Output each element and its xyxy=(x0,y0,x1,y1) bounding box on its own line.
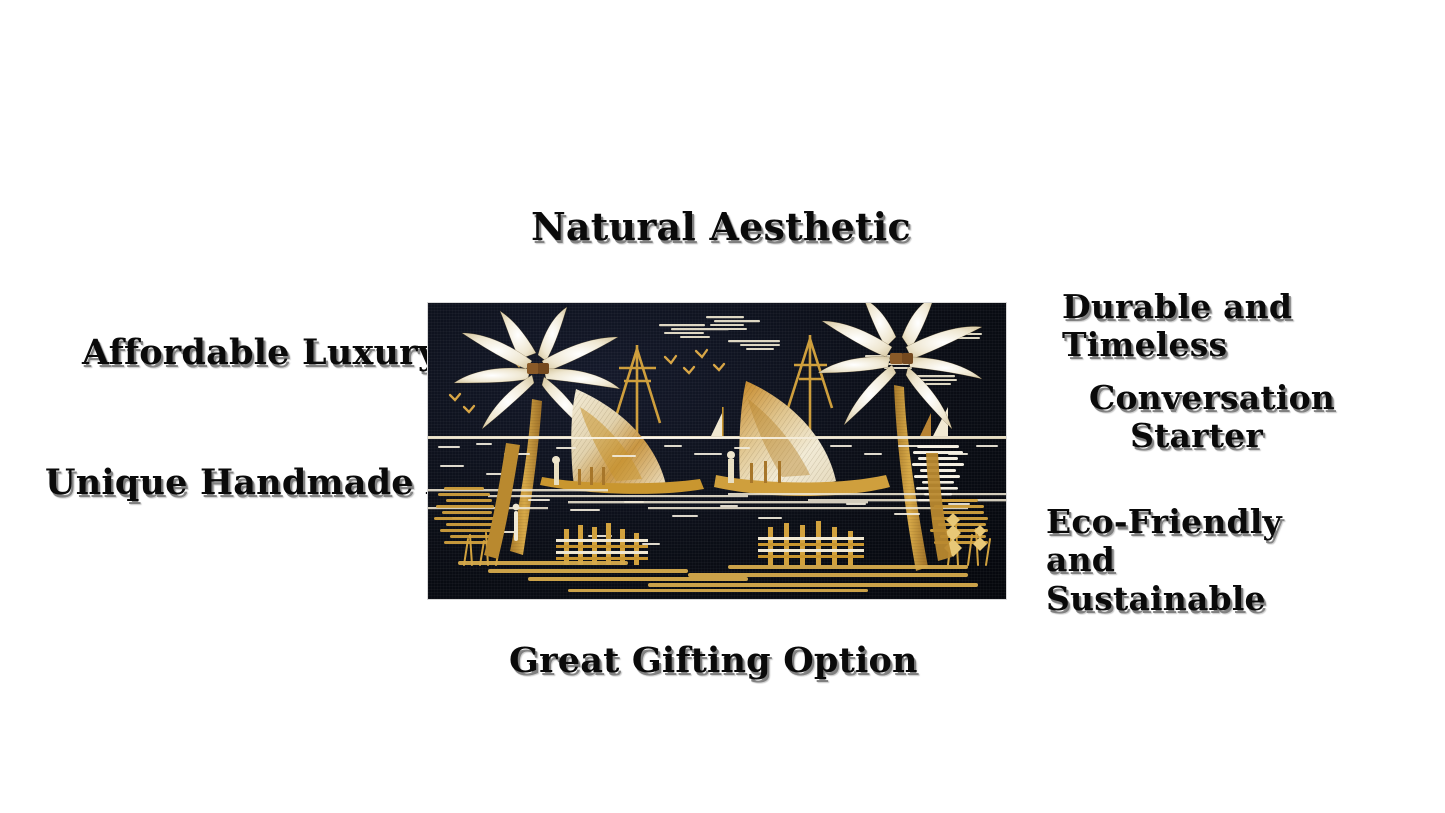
artwork-scene xyxy=(428,303,1006,599)
shore-fence-left xyxy=(556,523,648,565)
distant-sailboat-center xyxy=(711,407,724,437)
feature-label-conversation-starter: Conversation Starter xyxy=(1089,379,1304,456)
feature-label-unique-handmade-art: Unique Handmade Art xyxy=(45,463,489,504)
feature-label-great-gifting-option: Great Gifting Option xyxy=(509,641,918,682)
feature-label-natural-aesthetic: Natural Aesthetic xyxy=(531,205,911,249)
product-artwork-straw-art-seascape xyxy=(428,303,1006,599)
horizon-highlight xyxy=(428,437,1006,439)
sail-right-boat xyxy=(739,381,836,487)
feature-label-durable-and-timeless: Durable and Timeless xyxy=(1062,288,1445,365)
feature-label-eco-friendly-and-sustainable: Eco-Friendly and Sustainable xyxy=(1046,503,1346,618)
foreground-shore xyxy=(458,561,978,592)
shore-fence-right xyxy=(758,521,864,565)
feature-label-affordable-luxury: Affordable Luxury xyxy=(82,333,438,374)
slide-canvas: Natural Aesthetic Affordable Luxury Uniq… xyxy=(0,0,1445,813)
